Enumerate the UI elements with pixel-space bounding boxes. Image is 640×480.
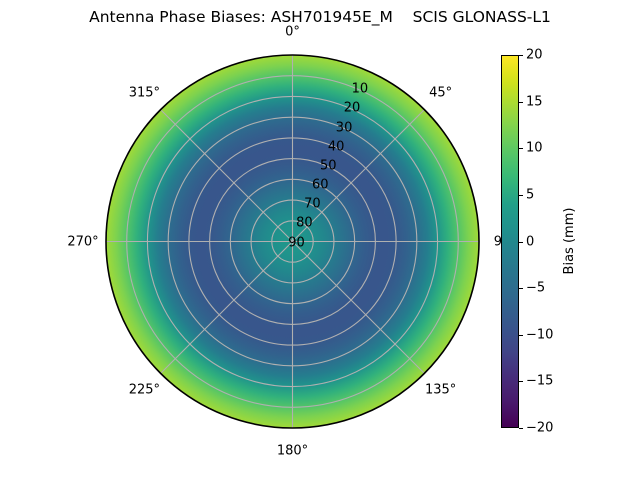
radial-tick-label-40: 40 — [328, 140, 345, 153]
colorbar-tick-label: −20 — [526, 422, 553, 435]
theta-tick-label-135: 135° — [425, 383, 456, 396]
colorbar: 20151050−5−10−15−20 — [501, 55, 519, 428]
polar-plot: 0°45°90135°180°225°270°315° 102030405060… — [106, 55, 479, 428]
theta-tick-label-180: 180° — [277, 445, 308, 458]
colorbar-tick-label: −15 — [526, 375, 553, 388]
theta-tick-label-45: 45° — [429, 87, 452, 100]
colorbar-tick-mark — [519, 195, 523, 196]
colorbar-tick-label: 20 — [526, 49, 543, 62]
colorbar-tick-label: 5 — [526, 188, 534, 201]
radial-tick-label-50: 50 — [320, 159, 337, 172]
radial-tick-label-60: 60 — [312, 179, 329, 192]
colorbar-gradient — [501, 55, 519, 428]
colorbar-tick-mark — [519, 102, 523, 103]
figure-canvas: Antenna Phase Biases: ASH701945E_M SCIS … — [0, 0, 640, 480]
theta-tick-label-315: 315° — [129, 87, 160, 100]
colorbar-axis-label: Bias (mm) — [563, 208, 576, 275]
colorbar-tick-label: 10 — [526, 142, 543, 155]
theta-tick-label-225: 225° — [129, 383, 160, 396]
radial-tick-label-30: 30 — [336, 121, 353, 134]
radial-tick-label-10: 10 — [352, 83, 369, 96]
colorbar-tick-label: 15 — [526, 95, 543, 108]
colorbar-tick-mark — [519, 242, 523, 243]
colorbar-tick-mark — [519, 148, 523, 149]
radial-tick-label-70: 70 — [304, 198, 321, 211]
theta-tick-label-0: 0° — [285, 26, 300, 39]
radial-tick-label-80: 80 — [296, 217, 313, 230]
colorbar-tick-mark — [519, 288, 523, 289]
colorbar-tick-label: −5 — [526, 282, 545, 295]
colorbar-tick-mark — [519, 55, 523, 56]
radial-tick-label-20: 20 — [344, 102, 361, 115]
radial-tick-label-90: 90 — [288, 236, 305, 249]
theta-tick-label-270: 270° — [67, 235, 98, 248]
colorbar-tick-label: −10 — [526, 328, 553, 341]
colorbar-tick-mark — [519, 381, 523, 382]
colorbar-tick-mark — [519, 335, 523, 336]
page-title: Antenna Phase Biases: ASH701945E_M SCIS … — [0, 8, 640, 26]
colorbar-tick-label: 0 — [526, 235, 534, 248]
colorbar-tick-mark — [519, 428, 523, 429]
